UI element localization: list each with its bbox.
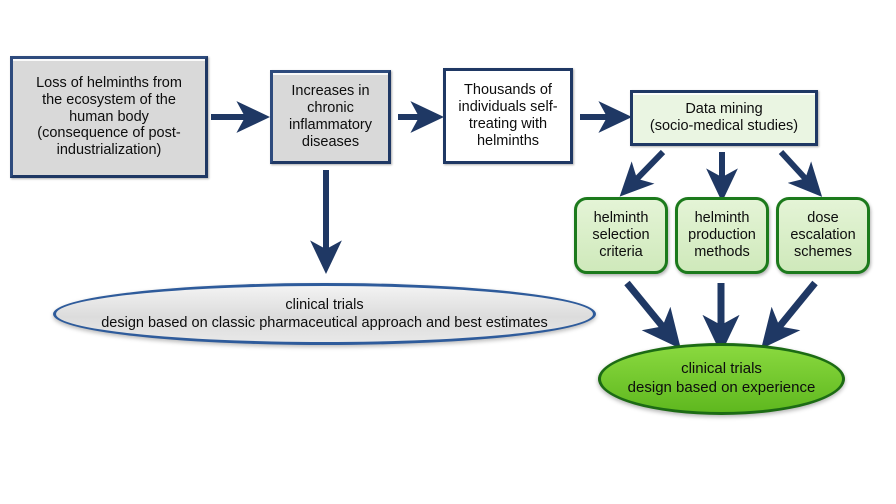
- node-dose-escalation-schemes[interactable]: dose escalation schemes: [776, 197, 870, 274]
- node-increases-chronic-inflammatory-label: Increases in chronic inflammatory diseas…: [289, 83, 372, 151]
- node-loss-of-helminths[interactable]: Loss of helminths from the ecosystem of …: [10, 56, 208, 178]
- node-dose-escalation-schemes-label: dose escalation schemes: [790, 210, 855, 261]
- node-thousands-self-treating-label: Thousands of individuals self- treating …: [458, 82, 557, 150]
- node-data-mining[interactable]: Data mining (socio-medical studies): [630, 90, 818, 146]
- node-helminth-selection-criteria-label: helminth selection criteria: [592, 210, 649, 261]
- arrow-data-mining-to-dose: [781, 152, 814, 188]
- node-helminth-production-methods[interactable]: helminth production methods: [675, 197, 769, 274]
- flowchart-canvas: Loss of helminths from the ecosystem of …: [0, 0, 896, 504]
- node-helminth-production-methods-label: helminth production methods: [688, 210, 756, 261]
- node-clinical-trials-experience-label: clinical trials design based on experien…: [628, 360, 816, 398]
- node-data-mining-label: Data mining (socio-medical studies): [650, 101, 798, 135]
- arrow-selection-to-experience-trials: [627, 283, 672, 338]
- node-thousands-self-treating[interactable]: Thousands of individuals self- treating …: [443, 68, 573, 164]
- node-increases-chronic-inflammatory[interactable]: Increases in chronic inflammatory diseas…: [270, 70, 391, 164]
- node-clinical-trials-classic-label: clinical trials design based on classic …: [101, 296, 548, 332]
- node-helminth-selection-criteria[interactable]: helminth selection criteria: [574, 197, 668, 274]
- arrow-data-mining-to-selection: [628, 152, 663, 188]
- node-clinical-trials-experience[interactable]: clinical trials design based on experien…: [598, 343, 845, 415]
- node-clinical-trials-classic[interactable]: clinical trials design based on classic …: [53, 283, 596, 345]
- node-loss-of-helminths-label: Loss of helminths from the ecosystem of …: [36, 75, 182, 160]
- arrow-dose-to-experience-trials: [770, 283, 815, 338]
